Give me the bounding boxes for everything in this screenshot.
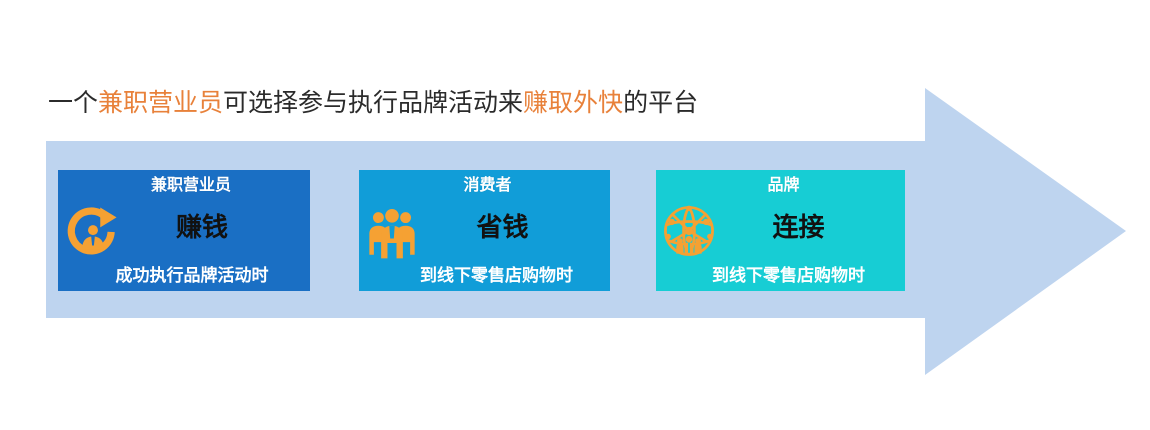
title-segment-4: 的平台 (623, 90, 698, 117)
page-title: 一个兼职营业员可选择参与执行品牌活动来赚取外快的平台 (48, 88, 698, 120)
card-footer-label: 成功执行品牌活动时 (58, 263, 310, 289)
card-footer-label: 到线下零售店购物时 (656, 263, 905, 289)
title-segment-3-highlight: 赚取外快 (523, 90, 623, 117)
card-consumer[interactable]: 消费者 省钱 到线下零售店购物时 (359, 170, 610, 291)
card-main-label: 省钱 (359, 210, 610, 246)
title-segment-2: 可选择参与执行品牌活动来 (223, 90, 523, 117)
card-header-label: 兼职营业员 (58, 175, 310, 197)
card-main-label: 赚钱 (58, 210, 310, 246)
card-header-label: 品牌 (656, 175, 905, 197)
title-segment-1-highlight: 兼职营业员 (98, 90, 223, 117)
card-main-label: 连接 (656, 210, 905, 246)
card-brand[interactable]: 品牌 (656, 170, 905, 291)
card-footer-label: 到线下零售店购物时 (359, 263, 610, 289)
title-segment-0: 一个 (48, 90, 98, 117)
card-part-time-promoter[interactable]: 兼职营业员 赚钱 成功执行品牌活动时 (58, 170, 310, 291)
card-header-label: 消费者 (359, 175, 610, 197)
